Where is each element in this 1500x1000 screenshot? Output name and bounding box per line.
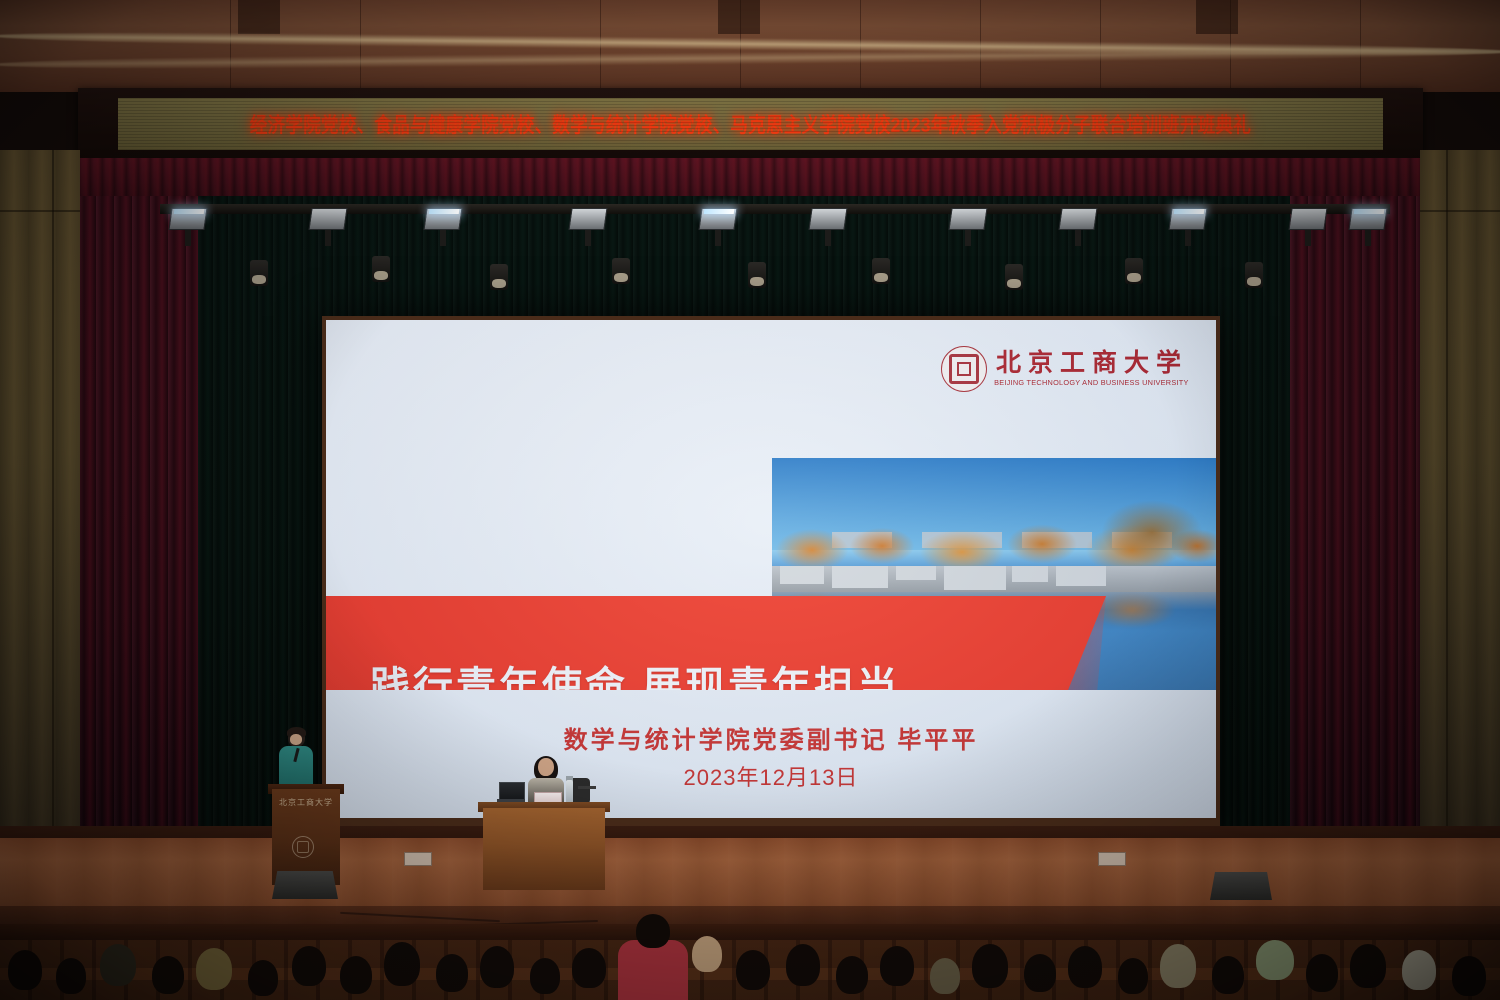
lighting-truss (160, 200, 1390, 318)
stage-light-icon (1350, 208, 1386, 246)
podium-label: 北京工商大学 (272, 797, 340, 808)
projection-screen: 北京工商大学 BEIJING TECHNOLOGY AND BUSINESS U… (322, 316, 1220, 826)
stage-light-icon (1170, 208, 1206, 246)
photo-building-shore (772, 566, 1216, 592)
slide-presenter: 数学与统计学院党委副书记 毕平平 (326, 720, 1216, 755)
presentation-slide: 北京工商大学 BEIJING TECHNOLOGY AND BUSINESS U… (326, 320, 1216, 818)
slide-title: 践行青年使命 展现青年担当 (370, 654, 900, 690)
slide-date: 2023年12月13日 (326, 760, 1216, 792)
logo-name-cn: 北京工商大学 (996, 351, 1188, 376)
par-can-icon (250, 260, 268, 286)
par-can-icon (1125, 258, 1143, 284)
par-can-icon (490, 264, 508, 290)
led-banner-text: 经济学院党校、食品与健康学院党校、数学与统计学院党校、马克思主义学院党校2023… (250, 109, 1251, 139)
ceiling-vent-icon (718, 0, 760, 34)
led-banner-screen: 经济学院党校、食品与健康学院党校、数学与统计学院党校、马克思主义学院党校2023… (118, 98, 1383, 150)
par-can-icon (372, 256, 390, 282)
stage-light-icon (950, 208, 986, 246)
floor-socket-icon (1098, 852, 1126, 866)
stage-light-icon (1290, 208, 1326, 246)
ceiling-wall (0, 0, 1500, 92)
par-can-icon (1245, 262, 1263, 288)
stage-light-icon (310, 208, 346, 246)
logo-name-en: BEIJING TECHNOLOGY AND BUSINESS UNIVERSI… (994, 378, 1190, 387)
ceiling-vent-icon (238, 0, 280, 34)
par-can-icon (612, 258, 630, 284)
par-can-icon (1005, 264, 1023, 290)
stage-light-icon (170, 208, 206, 246)
par-can-icon (872, 258, 890, 284)
auditorium-scene: 经济学院党校、食品与健康学院党校、数学与统计学院党校、马克思主义学院党校2023… (0, 0, 1500, 1000)
floor-socket-icon (404, 852, 432, 866)
laptop (497, 782, 525, 804)
stage-light-icon (700, 208, 736, 246)
audience-area (0, 906, 1500, 1000)
audience-member-red-vest (618, 940, 688, 1000)
hall-wall-panel-left (0, 150, 80, 910)
hall-wall-panel-right (1420, 150, 1500, 910)
stage-light-icon (570, 208, 606, 246)
photo-tree-cluster (1072, 488, 1216, 570)
stage-light-icon (425, 208, 461, 246)
stage-monitor-speaker-right (1210, 872, 1272, 900)
podium-emblem-icon (292, 836, 314, 858)
stage-light-icon (810, 208, 846, 246)
led-banner-frame: 经济学院党校、食品与健康学院党校、数学与统计学院党校、马克思主义学院党校2023… (78, 88, 1423, 160)
water-bottle (566, 780, 573, 804)
speaker-at-podium (276, 728, 316, 790)
ceiling-vent-icon (1196, 0, 1238, 34)
stage-light-icon (1060, 208, 1096, 246)
par-can-icon (748, 262, 766, 288)
audience-member-white-hat (1402, 950, 1436, 990)
slide-photo-band: 践行青年使命 展现青年担当 ——做有理想、敢担当、能吃苦、肯奋斗的新时代好青年 (326, 458, 1216, 690)
university-logo: 北京工商大学 BEIJING TECHNOLOGY AND BUSINESS U… (941, 346, 1188, 392)
audience-member-green-hat (1256, 940, 1294, 980)
btbu-emblem-icon (941, 346, 987, 392)
stage-monitor-speaker-left (272, 871, 338, 899)
presenter-desk (483, 808, 605, 890)
desk-microphone-icon (578, 786, 596, 789)
